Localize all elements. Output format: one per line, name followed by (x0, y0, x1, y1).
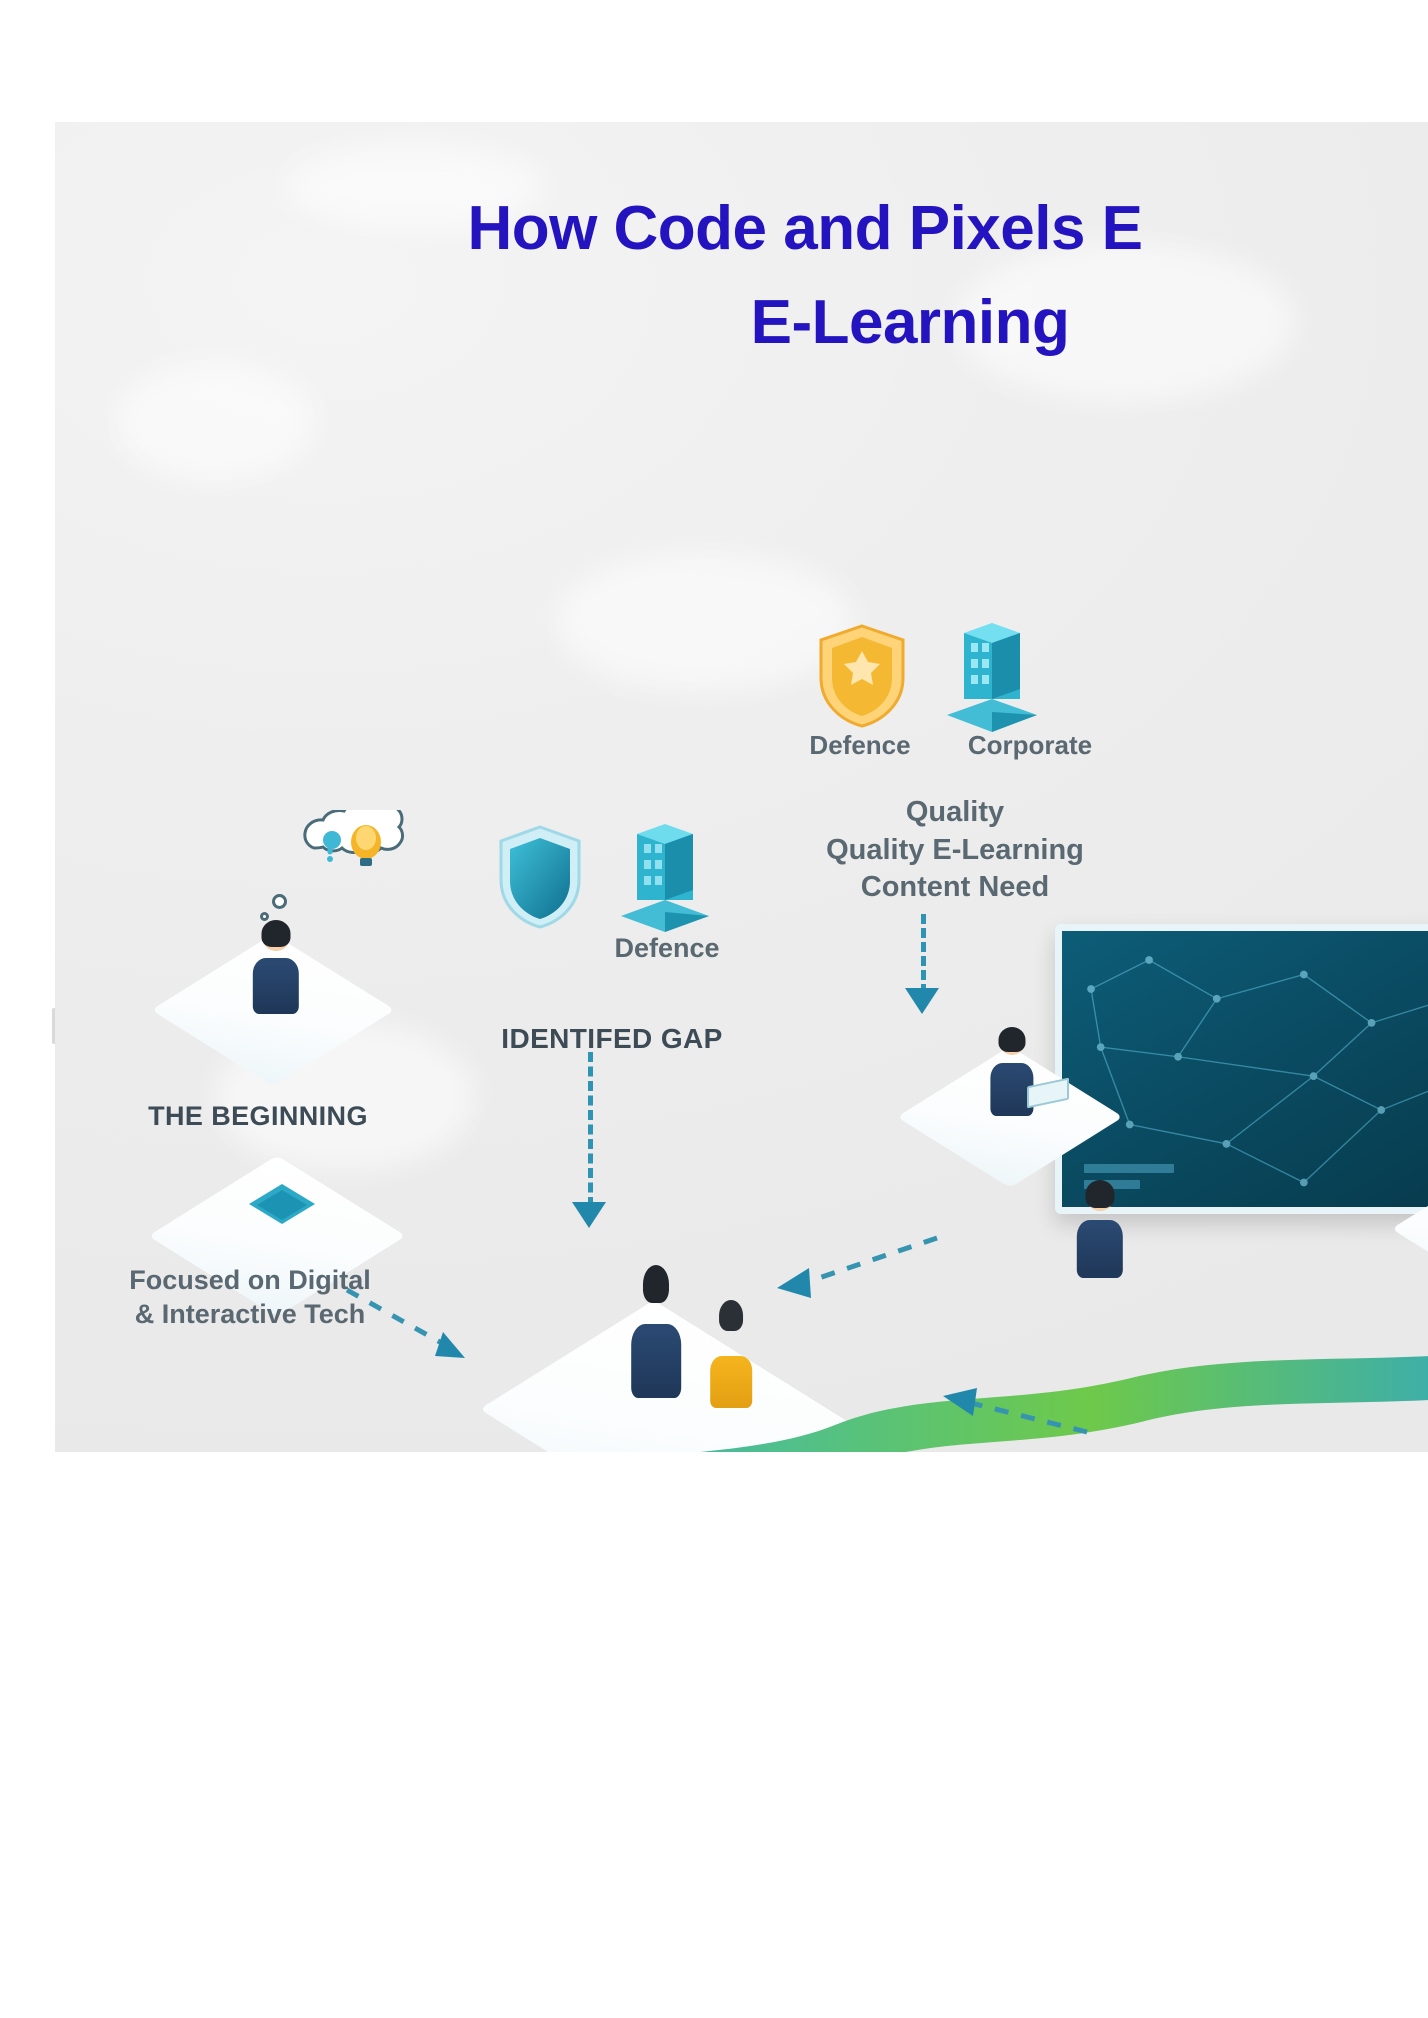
monitor-icon (1055, 924, 1428, 1214)
sector-label-corporate-top: Corporate (915, 730, 1145, 762)
connector-road-to-delivery (915, 1384, 1095, 1444)
stage-label-quality: Quality Quality E-Learning Content Need (755, 794, 1155, 907)
shield-badge-icon (815, 622, 909, 730)
paper-blotch (115, 362, 315, 482)
stage-label-focus-line-2: & Interactive Tech (135, 1299, 366, 1329)
connector-quality-down (921, 914, 926, 994)
title-line-2: E-Learning (55, 276, 1428, 370)
person-hair (262, 920, 291, 947)
stage-label-focus-line-1: Focused on Digital (129, 1265, 371, 1295)
page-title: How Code and Pixels E E-Learning (55, 182, 1428, 370)
title-line-1: How Code and Pixels E (55, 182, 1428, 276)
stage-label-identified-gap: IDENTIFED GAP (447, 1022, 777, 1056)
thought-bubble-icon (290, 810, 410, 894)
arrow-down-icon (572, 1202, 606, 1228)
person-hair (999, 1027, 1026, 1053)
sector-label-defence-mid: Defence (577, 932, 757, 965)
person-hair (643, 1265, 669, 1303)
quality-line-1: Quality (906, 796, 1004, 828)
stage-label-beginning: THE BEGINNING (93, 1100, 423, 1133)
thought-bubble-tail-large (272, 894, 287, 909)
connector-focus-to-center (343, 1284, 473, 1374)
connector-delivery-to-people (755, 1228, 945, 1298)
person-hair (1086, 1180, 1115, 1208)
screen-bar (1084, 1164, 1174, 1173)
person-thinking-icon (247, 924, 305, 1014)
screenshot-root: How Code and Pixels E E-Learning (0, 0, 1428, 2018)
quality-line-3: Content Need (861, 871, 1050, 903)
shield-icon (495, 822, 585, 932)
person-presenter-icon (1071, 1184, 1129, 1278)
infographic-card: How Code and Pixels E E-Learning (55, 122, 1428, 1452)
thought-bubble-tail-small (260, 912, 269, 921)
building-icon (943, 618, 1041, 732)
cube-icon (245, 1180, 319, 1236)
building-icon (617, 820, 713, 932)
connector-gap-down (588, 1052, 593, 1207)
quality-line-2: Quality E-Learning (826, 834, 1084, 866)
arrow-down-icon (905, 988, 939, 1014)
person-hair (719, 1300, 743, 1331)
person-body (1077, 1220, 1123, 1278)
paper-blotch (555, 552, 855, 692)
person-body (253, 958, 299, 1014)
